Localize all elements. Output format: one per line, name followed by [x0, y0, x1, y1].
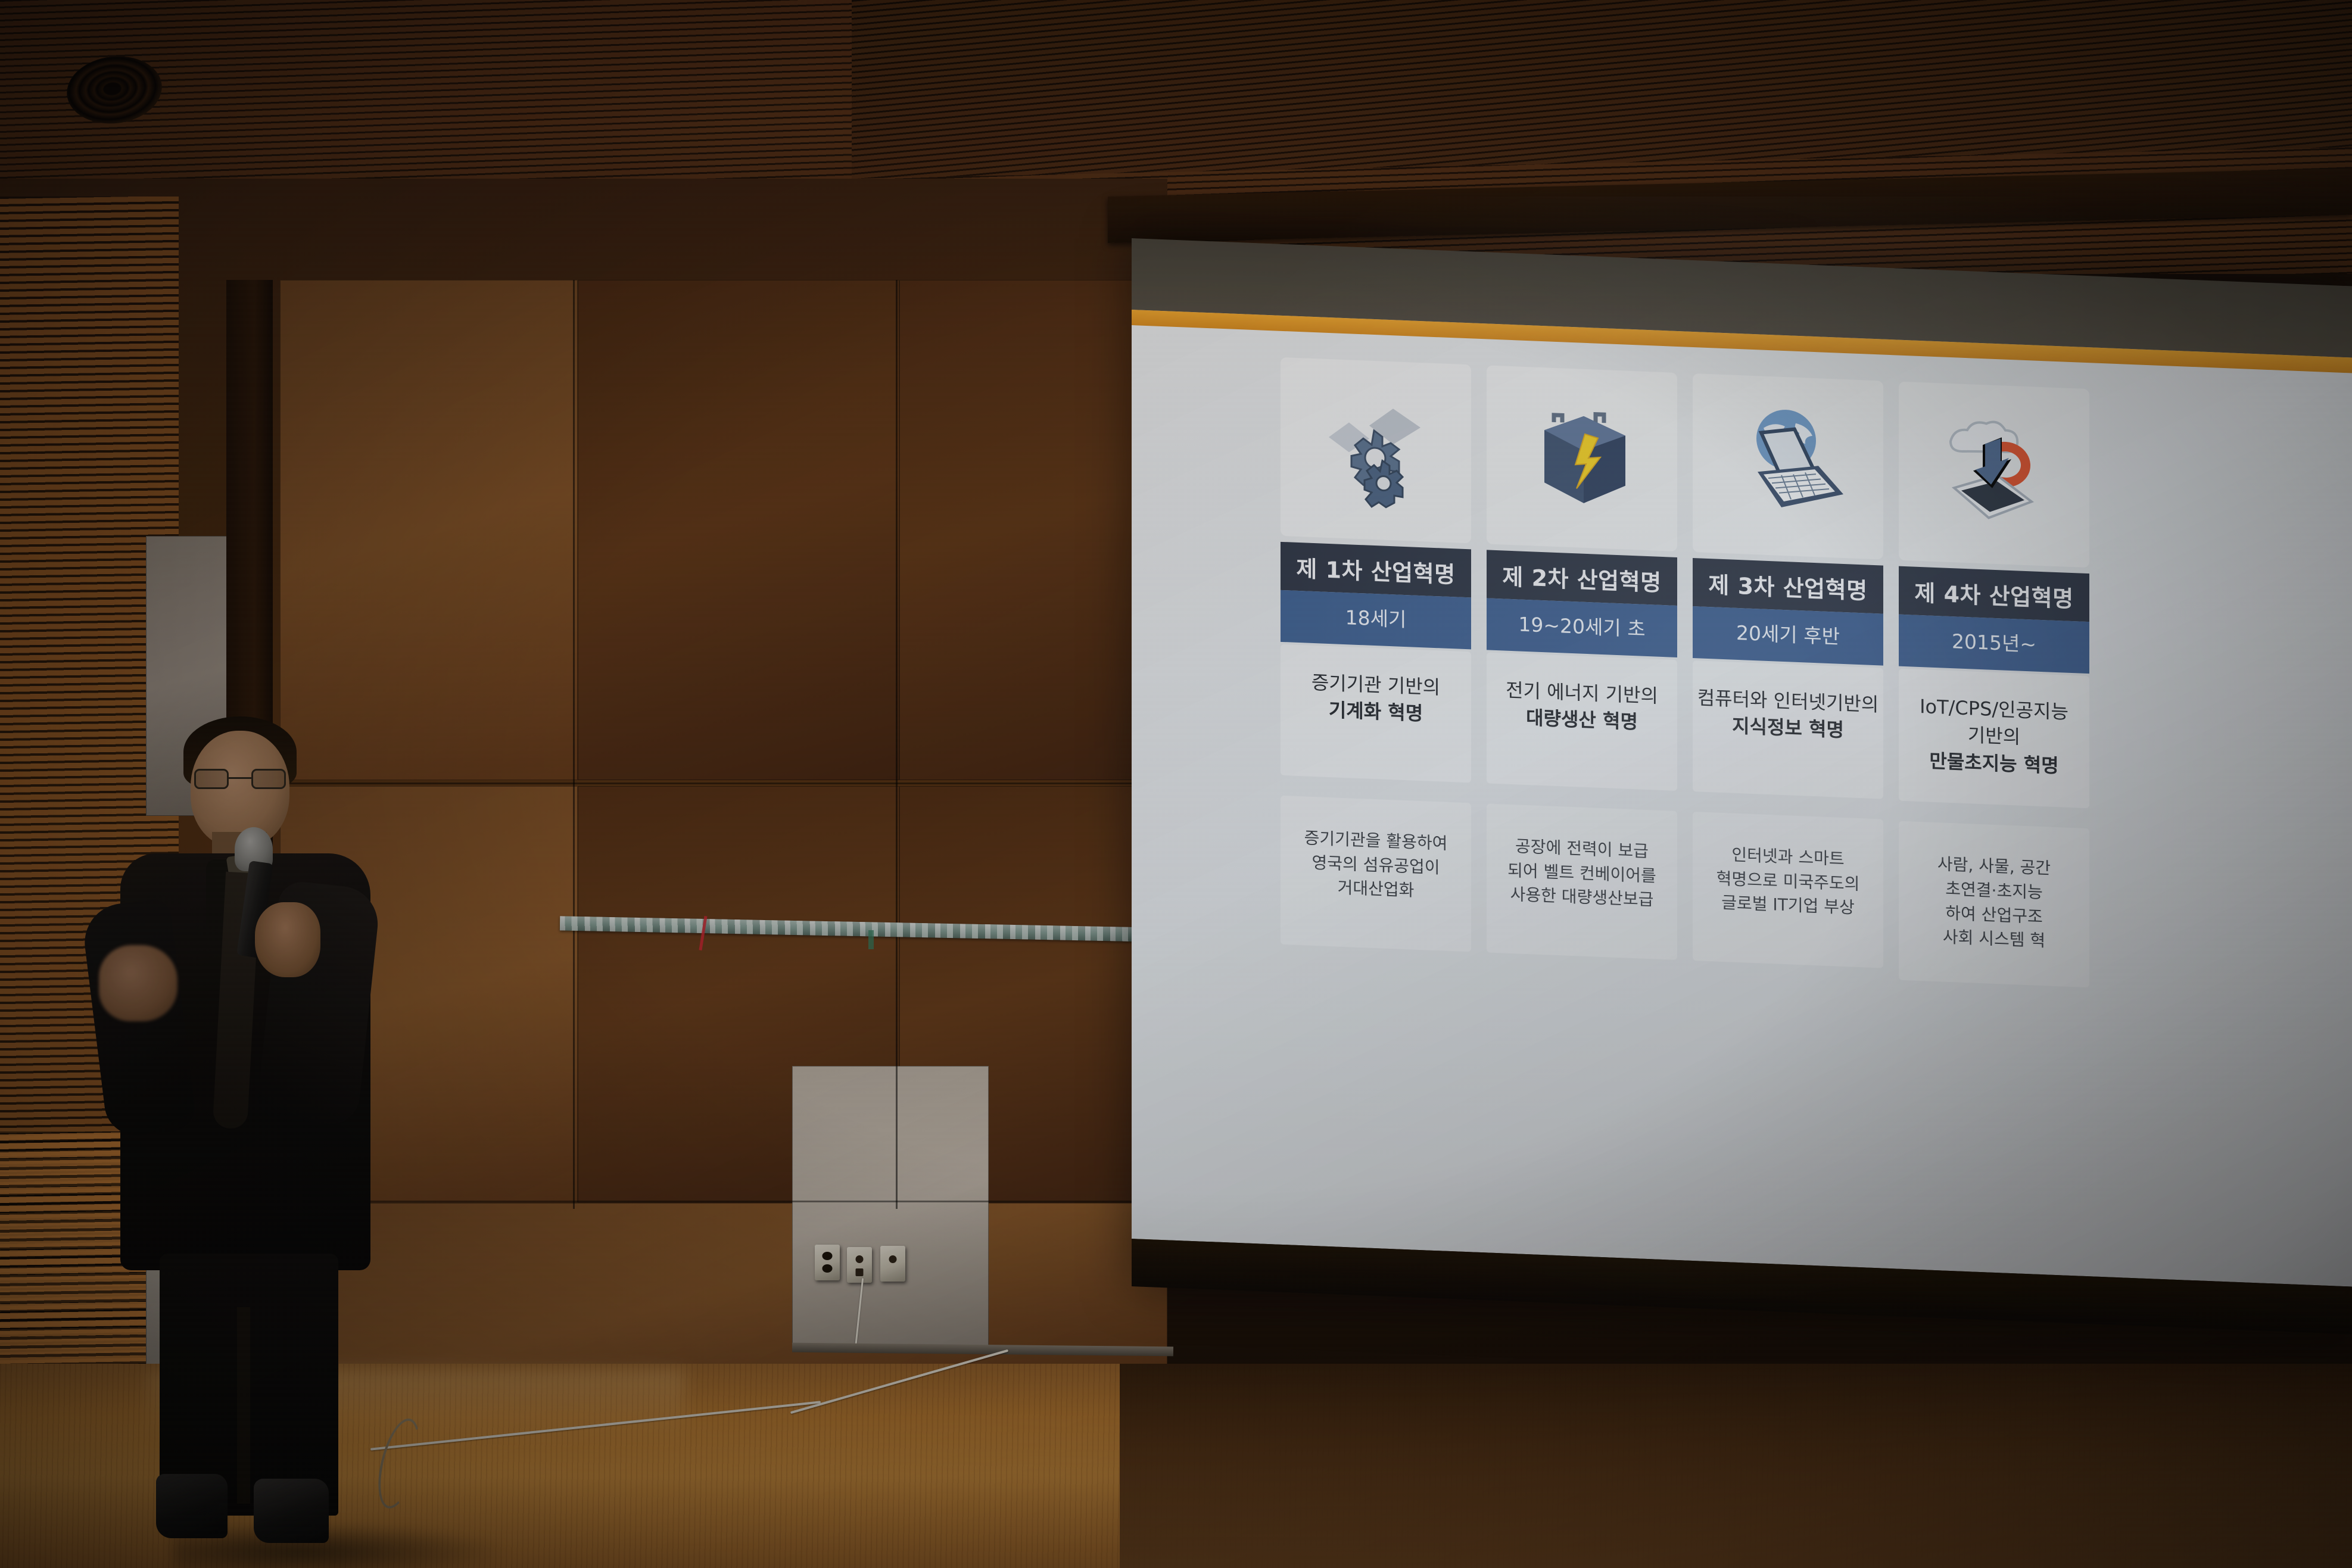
- slide-column-3: 제 3차 산업혁명 20세기 후반 컴퓨터와 인터넷기반의 지식정보 혁명 인터…: [1693, 373, 1883, 968]
- screen-surface: 제 1차 산업혁명 18세기 증기기관 기반의 기계화 혁명 증기기관을 활용하…: [1132, 310, 2352, 1287]
- wall-panel-upper-mid: [578, 280, 899, 780]
- column-3-summary: 컴퓨터와 인터넷기반의 지식정보 혁명: [1693, 660, 1883, 799]
- laptop-globe-icon: [1724, 400, 1852, 533]
- gear-cogs-icon: [1312, 384, 1440, 516]
- wall-seam-vertical-2: [896, 280, 898, 1209]
- column-1-period: 18세기: [1281, 590, 1471, 650]
- column-4-title: 제 4차 산업혁명: [1899, 566, 2089, 622]
- column-3-detail: 인터넷과 스마트 혁명으로 미국주도의 글로벌 IT기업 부상: [1693, 812, 1883, 968]
- slide-columns: 제 1차 산업혁명 18세기 증기기관 기반의 기계화 혁명 증기기관을 활용하…: [1281, 357, 2352, 997]
- column-4-detail: 사람, 사물, 공간 초연결·초지능 하여 산업구조 사회 시스템 혁: [1899, 821, 2089, 987]
- wall-panel-pale-right: [792, 1066, 989, 1352]
- slide-column-4: 제 4차 산업혁명 2015년~ IoT/CPS/인공지능 기반의 만물초지능 …: [1899, 382, 2089, 987]
- column-4-summary: IoT/CPS/인공지능 기반의 만물초지능 혁명: [1899, 669, 2089, 809]
- wall-panel-upper-left: [280, 280, 578, 780]
- presenter-head: [191, 731, 289, 847]
- presenter-boot-right: [254, 1479, 329, 1543]
- column-1-summary-line1: 증기기관 기반의: [1284, 668, 1468, 703]
- slide-column-2: 제 2차 산업혁명 19~20세기 초 전기 에너지 기반의 대량생산 혁명 공…: [1487, 365, 1677, 960]
- projection-screen: 제 1차 산업혁명 18세기 증기기관 기반의 기계화 혁명 증기기관을 활용하…: [1132, 238, 2352, 1335]
- ceiling-right-section: [852, 0, 2352, 179]
- slide-content: 제 1차 산업혁명 18세기 증기기관 기반의 기계화 혁명 증기기관을 활용하…: [1132, 325, 2352, 1287]
- column-1-title: 제 1차 산업혁명: [1281, 542, 1471, 598]
- eyeglasses-lens-right: [251, 769, 286, 789]
- column-1-summary: 증기기관 기반의 기계화 혁명: [1281, 644, 1471, 783]
- column-2-summary: 전기 에너지 기반의 대량생산 혁명: [1487, 652, 1677, 791]
- outlet-socket-upper-icon: [823, 1252, 833, 1260]
- column-3-summary-line1: 컴퓨터와 인터넷기반의: [1696, 684, 1880, 719]
- icon-cell-2: [1487, 365, 1677, 551]
- icon-cell-4: [1899, 382, 2089, 568]
- column-2-detail: 공장에 전력이 보급 되어 벨트 컨베이어를 사용한 대량생산보급: [1487, 803, 1677, 960]
- floor-shadowed-right: [1120, 1364, 2352, 1568]
- column-4-summary-line3: 만물초지능 혁명: [1929, 749, 2058, 777]
- icon-cell-1: [1281, 357, 1471, 544]
- battery-lightning-icon: [1518, 392, 1646, 525]
- network-jack-plate[interactable]: [880, 1246, 905, 1282]
- wall-panel-upper-right: [899, 280, 1167, 780]
- network-jack-icon: [889, 1255, 897, 1263]
- column-2-period: 19~20세기 초: [1487, 598, 1677, 657]
- column-2-summary-line1: 전기 에너지 기반의: [1490, 677, 1674, 711]
- eyeglasses-icon: [194, 769, 286, 789]
- column-4-period: 2015년~: [1899, 615, 2089, 674]
- eyeglasses-lens-left: [194, 769, 229, 789]
- presenter-hand-right: [255, 902, 320, 977]
- presenter-boot-left: [156, 1474, 228, 1538]
- lecture-hall-scene: 제 1차 산업혁명 18세기 증기기관 기반의 기계화 혁명 증기기관을 활용하…: [0, 0, 2352, 1568]
- av-jack-icon: [856, 1255, 864, 1263]
- column-1-detail: 증기기관을 활용하여 영국의 섬유공업이 거대산업화: [1281, 796, 1471, 952]
- presenter-leg-separation: [237, 1307, 250, 1504]
- column-1-summary-line2: 기계화 혁명: [1329, 699, 1423, 725]
- av-jack-secondary-icon: [856, 1268, 864, 1276]
- column-3-period: 20세기 후반: [1693, 606, 1883, 666]
- column-3-title: 제 3차 산업혁명: [1693, 558, 1883, 614]
- smartphone-cloud-icon: [1930, 408, 2058, 541]
- power-outlet[interactable]: [815, 1245, 840, 1280]
- strip-marker-green: [868, 930, 874, 949]
- presenter: [89, 706, 423, 1462]
- presenter-hand-left: [99, 945, 177, 1021]
- icon-cell-3: [1693, 373, 1883, 560]
- column-2-summary-line2: 대량생산 혁명: [1526, 706, 1638, 733]
- wall-seam-vertical-1: [573, 280, 575, 1209]
- slide-column-1: 제 1차 산업혁명 18세기 증기기관 기반의 기계화 혁명 증기기관을 활용하…: [1281, 357, 1471, 952]
- column-2-title: 제 2차 산업혁명: [1487, 550, 1677, 606]
- av-jack-plate[interactable]: [847, 1247, 872, 1283]
- column-3-summary-line2: 지식정보 혁명: [1732, 715, 1844, 741]
- outlet-socket-lower-icon: [823, 1264, 833, 1273]
- eyeglasses-bridge: [229, 777, 253, 779]
